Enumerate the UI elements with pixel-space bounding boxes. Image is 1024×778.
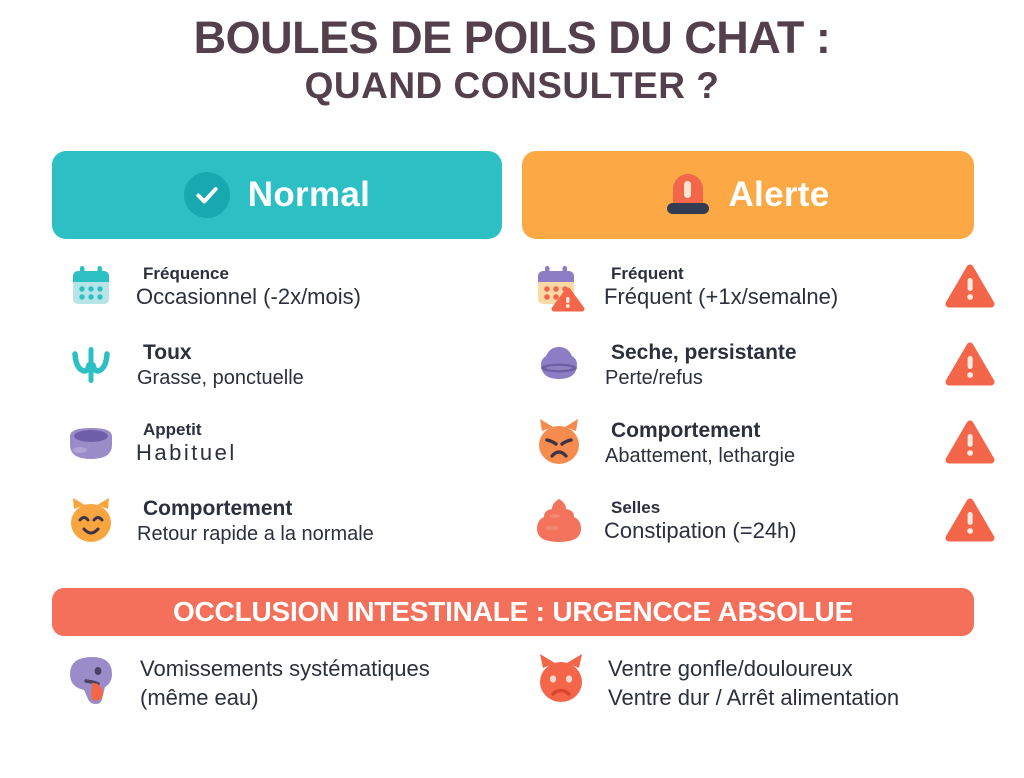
list-item: Appetit Habituel <box>60 404 515 482</box>
sad-cat-icon <box>528 417 590 469</box>
calendar-icon <box>60 262 122 312</box>
list-item: Comportement Retour rapide a la normale <box>60 482 515 560</box>
footer-line-1: Vomissements systématiques <box>140 654 430 683</box>
list-item: Selles Constipation (=24h) <box>528 482 998 560</box>
row-value: Abattement, lethargie <box>604 444 928 468</box>
list-item: Seche, persistante Perte/refus <box>528 326 998 404</box>
row-value: Retour rapide a la normale <box>136 522 515 546</box>
emergency-signs: Vomissements systématiques (même eau) Ve… <box>0 648 1024 758</box>
list-item: Fréquent Fréquent (+1x/semalne) <box>528 248 998 326</box>
list-item: Comportement Abattement, lethargie <box>528 404 998 482</box>
food-bowl-icon <box>60 420 122 466</box>
alert-header-label: Alerte <box>728 175 829 215</box>
footer-line-1: Ventre gonfle/douloureux <box>608 654 899 683</box>
list-item: Ventre gonfle/douloureux Ventre dur / Ar… <box>530 648 1000 713</box>
row-label: Seche, persistante <box>604 340 928 366</box>
warning-triangle-icon <box>942 420 998 466</box>
normal-column: Fréquence Occasionnel (-2x/mois) Toux Gr… <box>60 248 515 560</box>
list-item: Toux Grasse, ponctuelle <box>60 326 515 404</box>
calendar-alert-icon <box>528 261 590 313</box>
footer-line-2: (même eau) <box>140 683 430 712</box>
warning-triangle-icon <box>942 498 998 544</box>
warning-triangle-icon <box>942 342 998 388</box>
list-item: Vomissements systématiques (même eau) <box>62 648 512 713</box>
page-title: BOULES DE POILS DU CHAT : QUAND CONSULTE… <box>0 0 1024 109</box>
food-bowl-purple-icon <box>528 342 590 388</box>
normal-column-header[interactable]: Normal <box>52 151 502 239</box>
row-value: Fréquent (+1x/semalne) <box>604 284 928 310</box>
footer-line-2: Ventre dur / Arrêt alimentation <box>608 683 899 712</box>
title-line-2: QUAND CONSULTER ? <box>0 63 1024 109</box>
row-label: Fréquent <box>604 263 928 284</box>
row-value: Grasse, ponctuelle <box>136 366 515 390</box>
row-label: Appetit <box>136 419 515 440</box>
list-item: Fréquence Occasionnel (-2x/mois) <box>60 248 515 326</box>
siren-icon <box>666 172 710 218</box>
title-line-1: BOULES DE POILS DU CHAT : <box>0 14 1024 63</box>
vomiting-face-icon <box>62 648 124 712</box>
stool-icon <box>528 496 590 546</box>
warning-triangle-icon <box>942 264 998 310</box>
emergency-banner: OCCLUSION INTESTINALE : URGENCCE ABSOLUE <box>52 588 974 636</box>
row-value: Perte/refus <box>604 366 928 390</box>
alert-column: Fréquent Fréquent (+1x/semalne) <box>528 248 998 560</box>
check-circle-icon <box>184 172 230 218</box>
row-label: Toux <box>136 340 515 366</box>
emergency-banner-label: OCCLUSION INTESTINALE : URGENCCE ABSOLUE <box>173 596 853 628</box>
sound-wave-icon <box>60 341 122 389</box>
row-label: Comportement <box>136 496 515 522</box>
happy-cat-icon <box>60 495 122 547</box>
row-value: Constipation (=24h) <box>604 518 928 544</box>
row-value: Habituel <box>136 440 515 466</box>
row-value: Occasionnel (-2x/mois) <box>136 284 515 310</box>
row-label: Fréquence <box>136 263 515 284</box>
row-label: Selles <box>604 497 928 518</box>
distressed-cat-icon <box>530 648 592 712</box>
row-label: Comportement <box>604 418 928 444</box>
alert-column-header[interactable]: Alerte <box>522 151 974 239</box>
normal-header-label: Normal <box>248 175 370 215</box>
column-headers: Normal Alerte <box>0 151 1024 239</box>
